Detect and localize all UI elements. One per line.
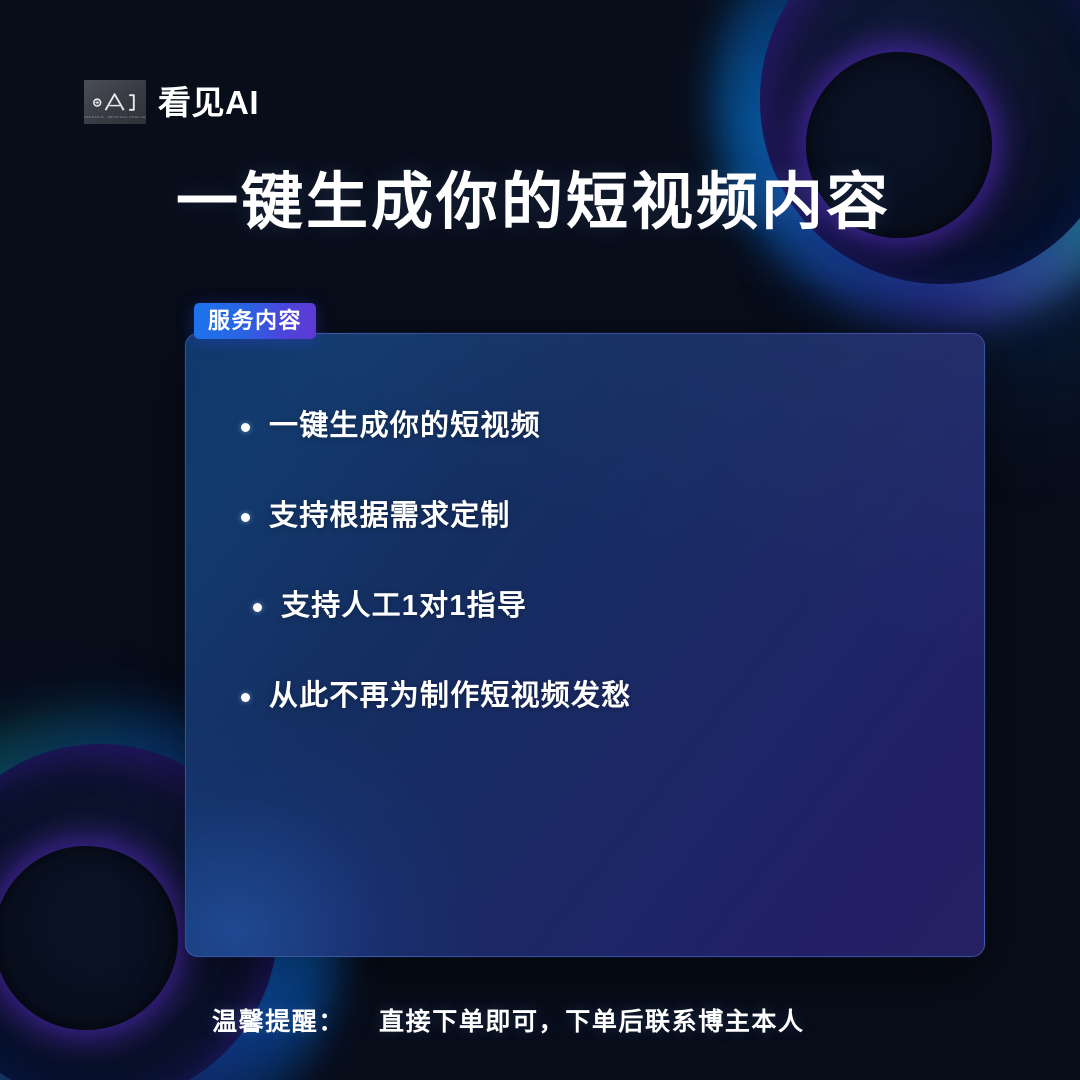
- bullet-icon: [241, 423, 250, 432]
- list-item: 从此不再为制作短视频发愁: [241, 682, 984, 712]
- page-title: 一键生成你的短视频内容: [176, 168, 891, 237]
- brand-lockup: KANJIAN AI · ARTIFICIAL INTELLIGENCE 看见A…: [84, 80, 259, 124]
- bullet-icon: [241, 513, 250, 522]
- section-badge: 服务内容: [194, 303, 316, 339]
- poster-canvas: KANJIAN AI · ARTIFICIAL INTELLIGENCE 看见A…: [0, 0, 1080, 1080]
- bullet-icon: [253, 603, 262, 612]
- footer-note-label: 温馨提醒：: [212, 1002, 345, 1038]
- brand-name: 看见AI: [158, 86, 259, 119]
- feature-text: 从此不再为制作短视频发愁: [269, 681, 631, 713]
- list-item: 支持根据需求定制: [241, 502, 984, 532]
- bottom-left-ring-inner: [0, 846, 178, 1030]
- top-right-ring-glow: [712, 0, 1080, 328]
- footer-note: 温馨提醒： 直接下单即可，下单后联系博主本人: [212, 1002, 805, 1038]
- top-right-ring-outer: [760, 0, 1080, 284]
- service-content-card: 一键生成你的短视频 支持根据需求定制 支持人工1对1指导 从此不再为制作短视频发…: [185, 333, 985, 957]
- footer-note-text: 直接下单即可，下单后联系博主本人: [379, 1002, 805, 1038]
- feature-text: 支持人工1对1指导: [281, 591, 527, 623]
- bullet-icon: [241, 693, 250, 702]
- logo-caption: KANJIAN AI · ARTIFICIAL INTELLIGENCE: [84, 115, 146, 119]
- feature-text: 支持根据需求定制: [269, 501, 511, 533]
- ai-monogram-logo-icon: KANJIAN AI · ARTIFICIAL INTELLIGENCE: [84, 80, 146, 124]
- feature-list: 一键生成你的短视频 支持根据需求定制 支持人工1对1指导 从此不再为制作短视频发…: [186, 334, 984, 712]
- list-item: 一键生成你的短视频: [241, 412, 984, 442]
- list-item: 支持人工1对1指导: [241, 592, 984, 622]
- feature-text: 一键生成你的短视频: [269, 411, 541, 443]
